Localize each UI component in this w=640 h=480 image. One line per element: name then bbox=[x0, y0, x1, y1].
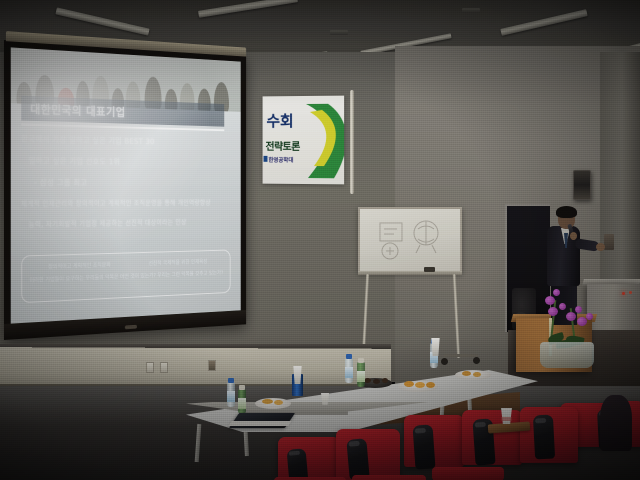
banner-org: 한영공학대 bbox=[268, 156, 293, 164]
food-item bbox=[473, 372, 481, 377]
slide-bullet: 능력, 자기회발적 기업정 제공하는 선진적 대상이라는 인상 bbox=[21, 217, 228, 230]
whiteboard-caster bbox=[441, 358, 448, 365]
banner-swoosh-graphic bbox=[304, 102, 344, 181]
orange-slice bbox=[415, 382, 425, 388]
banner-subtitle: 전략토론 bbox=[266, 138, 300, 153]
seat-armrest bbox=[412, 424, 435, 469]
podium-indicator-light bbox=[629, 291, 632, 294]
whiteboard-foot bbox=[444, 354, 478, 357]
wall-banner: 수회 전략토론 한영공학대 bbox=[263, 96, 345, 185]
food-item bbox=[364, 378, 371, 383]
seat-armrest bbox=[287, 448, 309, 480]
orchid-pot-wrap bbox=[540, 342, 594, 368]
orange-slice bbox=[404, 381, 414, 387]
banner-pole bbox=[350, 90, 354, 194]
water-bottle bbox=[345, 358, 353, 383]
cup-logo-band bbox=[501, 417, 512, 421]
whiteboard-eraser bbox=[424, 267, 435, 272]
callout-line-left: 창의적이고 계획적인 조직문화 bbox=[48, 261, 111, 271]
callout-line-right: 선진적 국제적을 위한 인재육성 bbox=[149, 257, 208, 266]
food-item bbox=[462, 371, 471, 376]
green-bottle bbox=[357, 362, 365, 387]
ceiling-vent bbox=[330, 30, 348, 35]
wall-outlet bbox=[160, 362, 168, 373]
seat-armrest bbox=[533, 415, 555, 460]
screen-pull-knob bbox=[124, 325, 136, 330]
orchid-bloom bbox=[577, 317, 587, 326]
orange-slice bbox=[426, 382, 435, 388]
slide-bullet: - 삼성 그룹 최고 bbox=[21, 177, 228, 188]
food-item bbox=[382, 378, 388, 383]
projection-screen: 대한민국의 대표기업 한국에서 가장 일하고 싶은 기업 BEST 30 일하고… bbox=[4, 40, 246, 340]
whiteboard-drawing bbox=[360, 209, 464, 275]
ceiling-vent bbox=[462, 8, 480, 13]
presenter-hand-holding-mic bbox=[570, 232, 577, 240]
whiteboard-caster bbox=[473, 357, 480, 364]
photo-scene: 수회 전략토론 한영공학대 대한민국의 대표기업 bbox=[0, 0, 640, 480]
wall-plate bbox=[604, 234, 614, 250]
presenter-hand bbox=[596, 243, 605, 251]
slide-bullet: 체계적 인재관리와 창의적이고 계획적인 조직운영을 통해 개인역량향상 bbox=[21, 198, 228, 209]
food-item bbox=[373, 379, 380, 384]
seated-person bbox=[600, 395, 632, 451]
orchid-bloom bbox=[553, 289, 560, 296]
ceiling-light-fixture bbox=[500, 9, 587, 36]
banner-accent bbox=[264, 156, 268, 162]
orchid-bloom bbox=[548, 307, 558, 316]
ceiling-light-fixture bbox=[198, 0, 298, 18]
presenter-hair bbox=[556, 206, 577, 218]
orchid-bloom bbox=[545, 296, 555, 305]
projected-slide: 대한민국의 대표기업 한국에서 가장 일하고 싶은 기업 BEST 30 일하고… bbox=[11, 47, 241, 323]
orchid-bloom bbox=[559, 303, 566, 310]
slide-bullet: 일하고 싶은 기업 선호도 1위 bbox=[21, 155, 228, 168]
orchid-bloom bbox=[575, 306, 582, 313]
slide-bullet: 한국에서 가장 일하고 싶은 기업 BEST 30 bbox=[21, 133, 228, 148]
podium-indicator-light bbox=[622, 292, 625, 295]
whiteboard bbox=[358, 207, 462, 273]
ceiling-light-fixture bbox=[55, 7, 149, 35]
seat-cushion[interactable] bbox=[352, 475, 426, 480]
slide-title: 대한민국의 대표기업 bbox=[30, 101, 125, 120]
whiteboard-marker-tray bbox=[358, 271, 462, 275]
wall-speaker bbox=[573, 170, 591, 200]
auditorium-seating bbox=[0, 395, 640, 480]
banner-title: 수회 bbox=[266, 110, 293, 131]
orchid-bloom bbox=[586, 313, 593, 320]
wall-outlet bbox=[208, 360, 216, 371]
orchid-bloom bbox=[566, 312, 576, 321]
seat-cushion[interactable] bbox=[432, 467, 504, 480]
wall-outlet bbox=[146, 362, 154, 373]
seat-armrest bbox=[346, 438, 369, 480]
